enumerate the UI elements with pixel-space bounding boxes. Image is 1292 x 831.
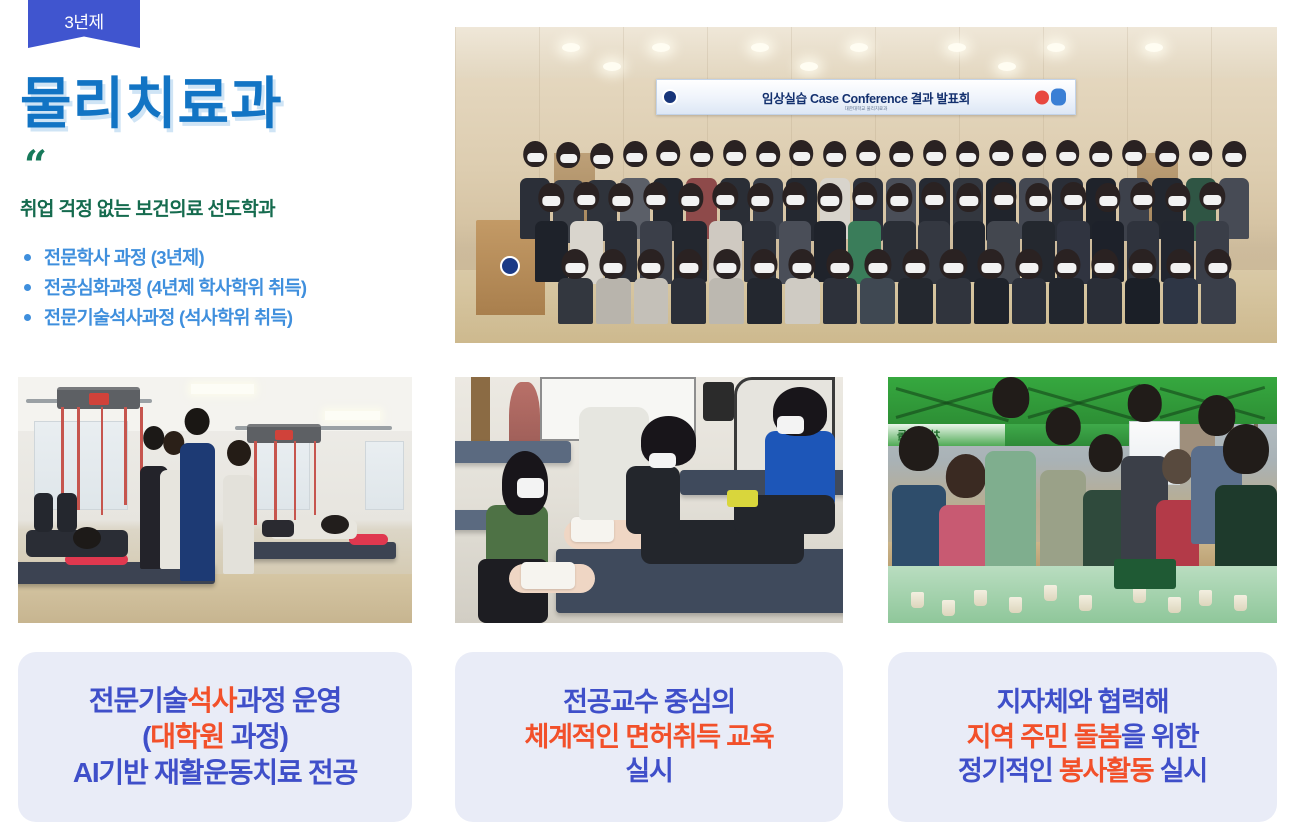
caption-text-segment: 과정 운영 — [236, 685, 341, 716]
caption-text-segment: 정기적인 — [958, 756, 1059, 786]
degree-program-list: 전문학사 과정 (3년제) 전공심화과정 (4년제 학사학위 취득) 전문기술석… — [20, 243, 440, 333]
department-info-column: 물리치료과 “ 취업 걱정 없는 보건의료 선도학과 전문학사 과정 (3년제)… — [20, 72, 440, 333]
feature-caption-graduate-program: 전문기술석사과정 운영(대학원 과정)AI기반 재활운동치료 전공 — [18, 652, 412, 822]
caption-text-segment: 석사 — [187, 685, 236, 716]
university-emblem-icon — [662, 89, 678, 105]
list-item: 전문기술석사과정 (석사학위 취득) — [20, 303, 440, 333]
bullet-dot-icon — [24, 284, 31, 291]
caption-text-segment: 과정) — [224, 721, 288, 752]
community-volunteer-photo: 치 15 돌 — [888, 377, 1277, 623]
caption-text-segment: 전공교수 중심의 — [563, 687, 735, 717]
caption-text-segment: 실시 — [1153, 756, 1207, 786]
caption-text-segment: 지역 주민 돌봄 — [967, 722, 1121, 752]
caption-line: 전문기술석사과정 운영 — [89, 683, 341, 719]
list-item: 전공심화과정 (4년제 학사학위 취득) — [20, 273, 440, 303]
caption-line: 실시 — [625, 754, 672, 789]
feature-caption-licensure-education: 전공교수 중심의체계적인 면허취득 교육실시 — [455, 652, 843, 822]
list-item-label: 전공심화과정 (4년제 학사학위 취득) — [44, 277, 306, 298]
sling-lab-scene — [18, 377, 412, 623]
program-length-badge: 3년제 — [28, 0, 140, 48]
caption-line: 정기적인 봉사활동 실시 — [958, 754, 1207, 789]
caption-line: 지역 주민 돌봄을 위한 — [967, 720, 1199, 755]
caption-text-segment: 대학원 — [150, 721, 224, 752]
taping-practice-photo — [455, 377, 843, 623]
list-item-label: 전문학사 과정 (3년제) — [44, 247, 204, 268]
caption-line: AI기반 재활운동치료 전공 — [73, 755, 357, 791]
poster-page: 3년제 물리치료과 “ 취업 걱정 없는 보건의료 선도학과 전문학사 과정 (… — [0, 0, 1292, 831]
caption-line: 전공교수 중심의 — [563, 685, 735, 720]
bullet-dot-icon — [24, 254, 31, 261]
group-photo-auditorium: 임상실습 Case Conference 결과 발표회 대한대학교 물리치료과 — [455, 27, 1277, 343]
mascot-icon — [1035, 89, 1069, 106]
caption-text-segment: 체계적인 면허취득 교육 — [524, 722, 773, 752]
taping-clinic-scene — [455, 377, 843, 623]
caption-text-segment: AI기반 재활운동치료 전공 — [73, 757, 357, 788]
caption-line: 지자체와 협력해 — [997, 685, 1169, 720]
caption-line: 체계적인 면허취득 교육 — [524, 720, 773, 755]
caption-text-segment: 전문기술 — [89, 685, 187, 716]
program-length-badge-label: 3년제 — [64, 8, 103, 33]
bullet-dot-icon — [24, 314, 31, 321]
caption-text-segment: 을 위한 — [1121, 722, 1198, 752]
conference-banner: 임상실습 Case Conference 결과 발표회 대한대학교 물리치료과 — [656, 79, 1075, 115]
caption-text-segment: 실시 — [625, 756, 672, 786]
auditorium-scene: 임상실습 Case Conference 결과 발표회 대한대학교 물리치료과 — [455, 27, 1277, 343]
sling-exercise-lab-photo — [18, 377, 412, 623]
quote-open-icon: “ — [24, 154, 440, 178]
conference-banner-title: 임상실습 Case Conference 결과 발표회 — [762, 88, 970, 107]
volunteer-event-scene: 치 15 돌 — [888, 377, 1277, 623]
caption-text-segment: 지자체와 협력해 — [997, 687, 1169, 717]
caption-line: (대학원 과정) — [142, 719, 288, 755]
list-item: 전문학사 과정 (3년제) — [20, 243, 440, 273]
department-tagline: 취업 걱정 없는 보건의료 선도학과 — [20, 194, 440, 221]
caption-text-segment: 봉사활동 — [1059, 756, 1154, 786]
feature-caption-community-volunteering: 지자체와 협력해지역 주민 돌봄을 위한정기적인 봉사활동 실시 — [888, 652, 1277, 822]
student-crowd — [513, 122, 1269, 324]
page-title: 물리치료과 — [20, 72, 440, 136]
list-item-label: 전문기술석사과정 (석사학위 취득) — [44, 307, 292, 328]
conference-banner-subtitle: 대한대학교 물리치료과 — [845, 106, 888, 112]
